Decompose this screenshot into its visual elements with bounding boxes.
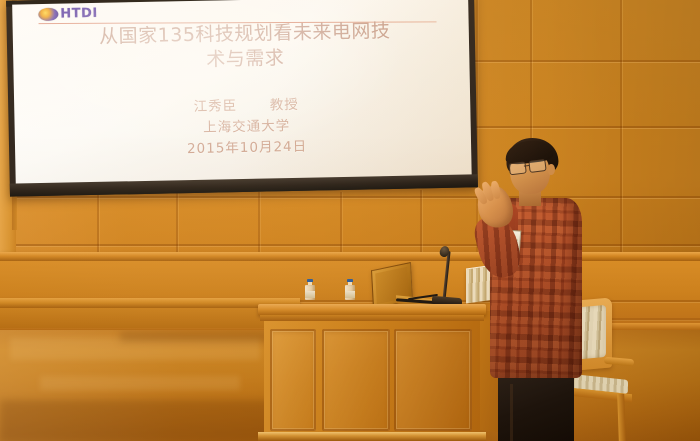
podium-raised-panel <box>270 329 316 431</box>
presenter-title: 教授 <box>270 97 299 114</box>
wall-seam <box>468 60 700 62</box>
podium-front-face <box>264 321 480 441</box>
projection-screen: HTDI 从国家135科技规划看未来电网技 术与需求 江秀臣 教授 上海交通大学… <box>6 0 478 197</box>
bottle-label <box>345 291 355 298</box>
water-bottle <box>305 279 315 300</box>
podium-base-trim <box>258 432 486 441</box>
conference-photo-scene: HTDI 从国家135科技规划看未来电网技 术与需求 江秀臣 教授 上海交通大学… <box>0 0 700 441</box>
wall-seam <box>258 192 260 252</box>
slide-subtitle-block: 江秀臣 教授 上海交通大学 2015年10月24日 <box>34 92 459 163</box>
wall-seam <box>420 190 422 252</box>
projected-slide: HTDI 从国家135科技规划看未来电网技 术与需求 江秀臣 教授 上海交通大学… <box>12 0 472 186</box>
logo-emblem-icon <box>38 8 58 21</box>
podium-top-surface <box>258 304 486 315</box>
wall-seam <box>176 192 178 252</box>
wall-seam <box>468 126 700 128</box>
htdi-logo: HTDI <box>38 6 98 22</box>
slide-title: 从国家135科技规划看未来电网技 术与需求 <box>33 18 458 77</box>
wall-seam <box>340 192 342 252</box>
logo-text: HTDI <box>60 6 98 22</box>
wall-seam <box>620 0 622 258</box>
floor-reflection <box>40 376 240 390</box>
bottle-body <box>305 285 315 300</box>
glasses-lens-left <box>508 161 526 175</box>
trouser-seam <box>510 384 513 441</box>
glasses-lens-right <box>528 159 546 173</box>
back-ledge-top <box>0 298 300 308</box>
bottle-label <box>305 291 315 298</box>
back-ledge-front <box>0 308 300 328</box>
wooden-podium <box>258 304 486 441</box>
bottle-body <box>345 285 355 300</box>
presenter-person <box>472 138 604 441</box>
slide-content: HTDI 从国家135科技规划看未来电网技 术与需求 江秀臣 教授 上海交通大学… <box>12 0 472 186</box>
presenter-name: 江秀臣 <box>194 98 238 115</box>
podium-raised-panel <box>322 329 390 431</box>
water-bottle <box>345 279 355 300</box>
podium-raised-panel <box>394 329 472 431</box>
wall-seam <box>97 192 99 252</box>
